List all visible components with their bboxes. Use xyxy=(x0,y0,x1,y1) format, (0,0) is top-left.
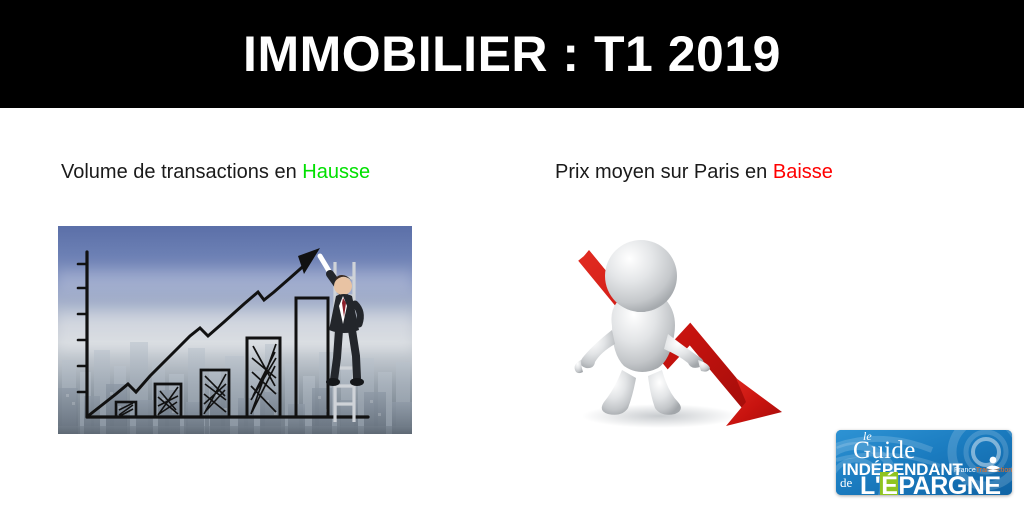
caption-left-prefix: Volume de transactions en xyxy=(61,161,302,183)
chart-arrow-head xyxy=(298,248,320,274)
logo-line-epargne: L'ÉPARGNE xyxy=(860,474,1001,495)
caption-left-panel: Volume de transactions en Hausse xyxy=(61,161,370,184)
logo-person-icon xyxy=(984,456,1002,472)
logo-epargne-prefix: L' xyxy=(860,472,880,495)
caption-right-prefix: Prix moyen sur Paris en xyxy=(555,161,773,183)
caption-left-keyword: Hausse xyxy=(302,161,370,183)
chart-bar xyxy=(296,298,328,417)
hand-drawn-growth-chart xyxy=(58,226,412,434)
chart-bars xyxy=(116,298,328,417)
logo-epargne-highlight: É xyxy=(880,472,898,495)
chart-bar xyxy=(155,384,181,417)
logo-epargne-suffix: PARGNE xyxy=(898,472,1000,495)
caption-right-panel: Prix moyen sur Paris en Baisse xyxy=(555,161,833,184)
caption-right-keyword: Baisse xyxy=(773,161,833,183)
chart-bar xyxy=(247,338,280,417)
figure-head xyxy=(605,240,677,312)
photo-growth-chart-businessman-ladder xyxy=(58,226,412,434)
title-banner: IMMOBILIER : T1 2019 xyxy=(0,0,1024,108)
chart-bar xyxy=(116,402,136,417)
page-title: IMMOBILIER : T1 2019 xyxy=(243,29,781,79)
logo-line-de: de xyxy=(840,476,852,489)
chart-bar xyxy=(201,370,229,417)
logo-guide-independant-epargne[interactable]: le Guide INDÉPENDANT FranceTransactions.… xyxy=(836,430,1012,495)
illustration-3d-figure-falling-red-arrow xyxy=(550,230,840,450)
